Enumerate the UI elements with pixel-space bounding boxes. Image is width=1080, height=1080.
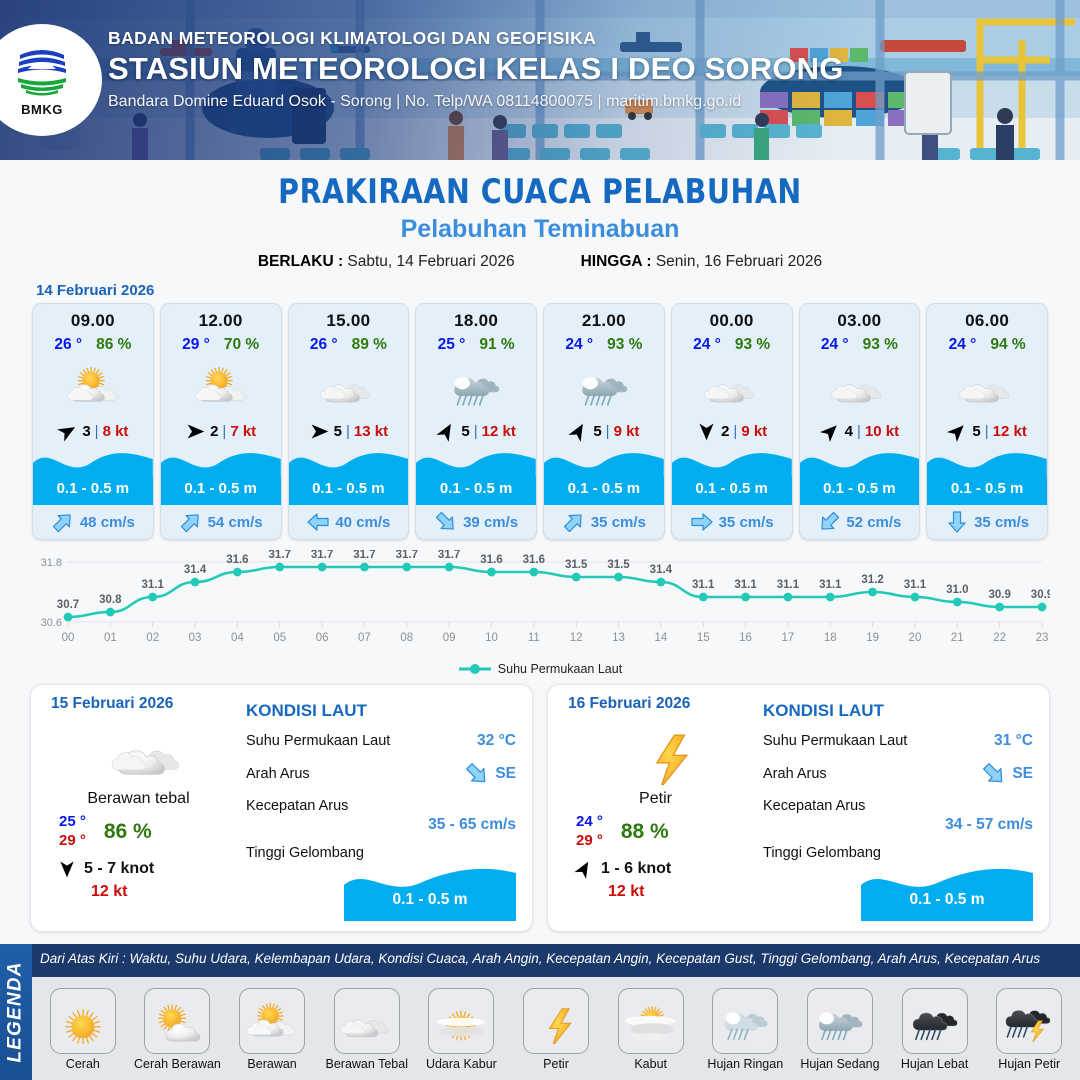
legend-icon-box <box>144 988 210 1054</box>
daily-weather-icon <box>568 715 763 790</box>
daily-temp-humidity: 25 ° 29 ° 86 % <box>51 813 246 851</box>
legend-item-label: Hujan Petir <box>998 1057 1060 1071</box>
light-rain-icon <box>715 998 775 1045</box>
wind-direction-icon <box>943 416 973 446</box>
svg-text:12: 12 <box>570 632 583 644</box>
wave-shape-icon <box>544 447 664 481</box>
sst-row: Suhu Permukaan Laut 32 °C <box>246 732 516 750</box>
card-time: 03.00 <box>800 304 920 331</box>
legend-item: Hujan Lebat <box>890 988 980 1071</box>
card-weather-icon <box>33 355 153 417</box>
wave-shape-icon <box>800 447 920 481</box>
current-direction-icon <box>812 505 846 539</box>
card-temperature: 24 ° <box>949 336 977 354</box>
svg-text:14: 14 <box>654 632 667 644</box>
wave-height-row: Tinggi Gelombang <box>246 845 516 861</box>
card-wave: 0.1 - 0.5 m <box>33 447 153 505</box>
card-time: 21.00 <box>544 304 664 331</box>
haze-icon <box>431 998 491 1045</box>
moderate-rain-icon <box>810 998 870 1045</box>
thunderstorm-icon <box>999 998 1059 1045</box>
daily-temps: 24 ° 29 ° <box>576 813 603 851</box>
daily-left: 16 Februari 2026 Petir 24 ° 29 ° 88 % <box>548 695 763 931</box>
daily-humidity: 88 % <box>621 820 669 844</box>
legend-side-title: LEGENDA <box>0 944 32 1080</box>
daily-temp-max: 29 ° <box>59 832 86 851</box>
svg-text:17: 17 <box>782 632 795 644</box>
sun-behind-small-cloud-icon <box>147 998 207 1045</box>
card-wave-height: 0.1 - 0.5 m <box>161 480 281 497</box>
cloud-icon <box>107 720 191 786</box>
svg-text:20: 20 <box>909 632 922 644</box>
sun-icon <box>53 998 113 1045</box>
wind-direction-icon <box>433 417 462 446</box>
svg-text:05: 05 <box>273 632 286 644</box>
card-wind-speed: 2 <box>721 423 729 440</box>
daily-temp-min: 24 ° <box>576 813 603 832</box>
card-temperature: 29 ° <box>182 336 210 354</box>
sea-condition-title: KONDISI LAUT <box>763 701 1033 721</box>
card-wind-separator: | <box>606 423 610 440</box>
legend-item: Hujan Ringan <box>700 988 790 1071</box>
wave-height-label: Tinggi Gelombang <box>246 845 364 861</box>
card-time: 09.00 <box>33 304 153 331</box>
daily-wind: 1 - 6 knot <box>568 859 763 879</box>
card-wind: 5 | 9 kt <box>544 417 664 445</box>
svg-text:13: 13 <box>612 632 625 644</box>
current-direction-row: Arah Arus SE <box>763 761 1033 787</box>
sst-row: Suhu Permukaan Laut 31 °C <box>763 732 1033 750</box>
card-current: 52 cm/s <box>800 505 920 539</box>
svg-text:31.6: 31.6 <box>480 554 502 566</box>
svg-text:23: 23 <box>1036 632 1049 644</box>
card-humidity: 93 % <box>863 336 898 354</box>
card-wave: 0.1 - 0.5 m <box>800 447 920 505</box>
cloud-icon <box>701 362 763 410</box>
wave-shape-icon <box>161 447 281 481</box>
valid-to-value: Senin, 16 Februari 2026 <box>656 253 822 270</box>
cloud-icon <box>337 998 397 1045</box>
legend-item-label: Udara Kabur <box>426 1057 497 1071</box>
sea-condition-title: KONDISI LAUT <box>246 701 516 721</box>
card-temp-humidity: 24 ° 93 % <box>800 336 920 354</box>
current-direction-icon <box>46 505 80 539</box>
card-temp-humidity: 26 ° 86 % <box>33 336 153 354</box>
legend-item: Cerah <box>38 988 128 1071</box>
wind-direction-icon <box>57 859 77 879</box>
svg-text:22: 22 <box>993 632 1006 644</box>
card-humidity: 91 % <box>479 336 514 354</box>
sun-behind-cloud-icon <box>190 362 252 410</box>
card-current-speed: 48 cm/s <box>80 514 135 531</box>
svg-text:07: 07 <box>358 632 371 644</box>
sst-value: 31 °C <box>994 732 1033 750</box>
legend-item: Hujan Sedang <box>795 988 885 1071</box>
legend-icon-row: Cerah Cerah Berawan <box>32 977 1080 1080</box>
card-gust: 9 kt <box>614 423 640 440</box>
card-wind: 2 | 9 kt <box>672 417 792 445</box>
legend-item-label: Hujan Sedang <box>800 1057 879 1071</box>
card-current-speed: 40 cm/s <box>335 514 390 531</box>
card-wave-height: 0.1 - 0.5 m <box>33 480 153 497</box>
svg-text:01: 01 <box>104 632 117 644</box>
card-wave-height: 0.1 - 0.5 m <box>544 480 664 497</box>
hourly-card: 12.00 29 ° 70 % 2 | 7 kt <box>160 303 282 540</box>
card-wind: 5 | 12 kt <box>416 417 536 445</box>
card-current: 35 cm/s <box>927 505 1047 539</box>
legend-item-label: Petir <box>543 1057 569 1071</box>
svg-text:09: 09 <box>443 632 456 644</box>
card-wind: 2 | 7 kt <box>161 417 281 445</box>
sst-value: 32 °C <box>477 732 516 750</box>
daily-gust: 12 kt <box>51 883 246 901</box>
svg-text:31.0: 31.0 <box>946 584 968 596</box>
card-temp-humidity: 29 ° 70 % <box>161 336 281 354</box>
card-wave: 0.1 - 0.5 m <box>161 447 281 505</box>
svg-text:31.4: 31.4 <box>650 564 673 576</box>
current-speed-value: 35 - 65 cm/s <box>246 816 516 834</box>
chart-legend-marker-icon <box>458 663 492 675</box>
bmkg-logo-text: BMKG <box>21 102 63 117</box>
card-humidity: 89 % <box>352 336 387 354</box>
svg-text:31.1: 31.1 <box>777 579 800 591</box>
card-wave-height: 0.1 - 0.5 m <box>416 480 536 497</box>
card-wind-speed: 5 <box>972 423 980 440</box>
sst-label: Suhu Permukaan Laut <box>763 733 907 749</box>
hourly-card: 03.00 24 ° 93 % 4 | 10 kt <box>799 303 921 540</box>
svg-text:31.6: 31.6 <box>226 554 248 566</box>
rain-icon <box>445 362 507 410</box>
card-wind: 4 | 10 kt <box>800 417 920 445</box>
svg-text:06: 06 <box>316 632 329 644</box>
card-weather-icon <box>289 355 409 417</box>
legend-icon-box <box>523 988 589 1054</box>
card-current: 40 cm/s <box>289 505 409 539</box>
daily-date: 16 Februari 2026 <box>568 695 763 713</box>
valid-from: BERLAKU : Sabtu, 14 Februari 2026 <box>258 253 515 271</box>
card-gust: 8 kt <box>103 423 129 440</box>
contact-line: Bandara Domine Eduard Osok - Sorong | No… <box>108 93 844 111</box>
card-temp-humidity: 24 ° 93 % <box>672 336 792 354</box>
daily-condition: Berawan tebal <box>51 790 226 808</box>
card-gust: 12 kt <box>993 423 1027 440</box>
current-direction-row: Arah Arus SE <box>246 761 516 787</box>
card-temperature: 24 ° <box>821 336 849 354</box>
legend-item: Udara Kabur <box>417 988 507 1071</box>
card-humidity: 86 % <box>96 336 131 354</box>
agency-name: BADAN METEOROLOGI KLIMATOLOGI DAN GEOFIS… <box>108 28 844 49</box>
svg-text:31.1: 31.1 <box>734 579 757 591</box>
svg-text:31.1: 31.1 <box>904 579 927 591</box>
fog-icon <box>621 998 681 1045</box>
svg-text:16: 16 <box>739 632 752 644</box>
card-wave-height: 0.1 - 0.5 m <box>289 480 409 497</box>
card-wind-speed: 5 <box>461 423 469 440</box>
card-temperature: 26 ° <box>310 336 338 354</box>
legend-bar: LEGENDA Dari Atas Kiri : Waktu, Suhu Uda… <box>0 944 1080 1080</box>
card-wind-separator: | <box>346 423 350 440</box>
daily-forecast-card: 16 Februari 2026 Petir 24 ° 29 ° 88 % <box>547 684 1050 932</box>
card-wave: 0.1 - 0.5 m <box>416 447 536 505</box>
card-wave-height: 0.1 - 0.5 m <box>672 480 792 497</box>
rain-icon <box>573 362 635 410</box>
svg-text:02: 02 <box>146 632 159 644</box>
card-weather-icon <box>161 355 281 417</box>
card-current: 35 cm/s <box>544 505 664 539</box>
legend-item-label: Hujan Ringan <box>707 1057 783 1071</box>
legend-item: Petir <box>511 988 601 1071</box>
card-temperature: 24 ° <box>565 336 593 354</box>
daily-condition: Petir <box>568 790 743 808</box>
card-weather-icon <box>416 355 536 417</box>
card-wave: 0.1 - 0.5 m <box>544 447 664 505</box>
card-current: 35 cm/s <box>672 505 792 539</box>
wave-height-row: Tinggi Gelombang <box>763 845 1033 861</box>
card-wind: 5 | 13 kt <box>289 417 409 445</box>
bmkg-emblem-icon <box>12 43 72 101</box>
legend-icon-box <box>618 988 684 1054</box>
daily-right: KONDISI LAUT Suhu Permukaan Laut 31 °C A… <box>763 695 1049 931</box>
svg-text:00: 00 <box>62 632 75 644</box>
card-current-speed: 35 cm/s <box>591 514 646 531</box>
svg-text:30.6: 30.6 <box>41 617 62 629</box>
card-wave: 0.1 - 0.5 m <box>927 447 1047 505</box>
card-gust: 10 kt <box>865 423 899 440</box>
station-name: STASIUN METEOROLOGI KELAS I DEO SORONG <box>108 51 844 87</box>
page-header: BMKG BADAN METEOROLOGI KLIMATOLOGI DAN G… <box>0 0 1080 160</box>
daily-wind: 5 - 7 knot <box>51 859 246 879</box>
card-wind-speed: 5 <box>334 423 342 440</box>
card-weather-icon <box>927 355 1047 417</box>
legend-item: Kabut <box>606 988 696 1071</box>
legend-icon-box <box>712 988 778 1054</box>
daily-wind-range: 5 - 7 knot <box>84 860 154 878</box>
card-wave-height: 0.1 - 0.5 m <box>800 480 920 497</box>
current-direction-icon <box>976 756 1013 793</box>
legend-item-label: Cerah Berawan <box>134 1057 221 1071</box>
card-current: 48 cm/s <box>33 505 153 539</box>
legend-side-title-text: LEGENDA <box>5 961 27 1062</box>
daily-temp-min: 25 ° <box>59 813 86 832</box>
card-wind-speed: 4 <box>845 423 853 440</box>
card-current-speed: 52 cm/s <box>846 514 901 531</box>
hourly-date-label: 14 Februari 2026 <box>36 282 1080 299</box>
sun-behind-cloud-icon <box>242 998 302 1045</box>
svg-text:21: 21 <box>951 632 964 644</box>
svg-text:31.7: 31.7 <box>311 550 333 561</box>
valid-to-label: HINGGA : <box>581 253 652 270</box>
page-title: PRAKIRAAN CUACA PELABUHAN <box>38 172 1042 212</box>
card-current-speed: 39 cm/s <box>463 514 518 531</box>
legend-item-label: Hujan Lebat <box>901 1057 968 1071</box>
wave-shape-icon <box>289 447 409 481</box>
card-gust: 12 kt <box>482 423 516 440</box>
svg-text:31.4: 31.4 <box>184 564 207 576</box>
card-wind-separator: | <box>733 423 737 440</box>
current-direction-icon <box>557 505 591 539</box>
card-wind-speed: 5 <box>593 423 601 440</box>
svg-text:31.2: 31.2 <box>861 574 883 586</box>
wave-shape-icon <box>927 447 1047 481</box>
legend-main: Dari Atas Kiri : Waktu, Suhu Udara, Kele… <box>32 944 1080 1080</box>
thunder-icon <box>624 720 708 786</box>
current-speed-label: Kecepatan Arus <box>763 798 865 814</box>
card-gust: 9 kt <box>741 423 767 440</box>
daily-temps: 25 ° 29 ° <box>59 813 86 851</box>
heavy-rain-icon <box>905 998 965 1045</box>
svg-text:31.7: 31.7 <box>438 550 460 561</box>
card-time: 06.00 <box>927 304 1047 331</box>
card-gust: 7 kt <box>230 423 256 440</box>
cloud-icon <box>317 362 379 410</box>
hourly-card: 06.00 24 ° 94 % 5 | 12 kt <box>926 303 1048 540</box>
card-time: 18.00 <box>416 304 536 331</box>
card-weather-icon <box>544 355 664 417</box>
svg-text:31.1: 31.1 <box>142 579 165 591</box>
wind-direction-icon <box>185 421 206 442</box>
card-current: 54 cm/s <box>161 505 281 539</box>
current-speed-row: Kecepatan Arus <box>246 798 516 814</box>
svg-text:19: 19 <box>866 632 879 644</box>
svg-text:30.9: 30.9 <box>988 589 1010 601</box>
sst-label: Suhu Permukaan Laut <box>246 733 390 749</box>
daily-humidity: 86 % <box>104 820 152 844</box>
legend-item: Cerah Berawan <box>133 988 223 1071</box>
card-weather-icon <box>672 355 792 417</box>
page-subtitle: Pelabuhan Teminabuan <box>0 215 1080 244</box>
wave-height-label: Tinggi Gelombang <box>763 845 881 861</box>
daily-date: 15 Februari 2026 <box>51 695 246 713</box>
legend-item: Berawan Tebal <box>322 988 412 1071</box>
wave-shape-icon <box>416 447 536 481</box>
legend-item: Berawan <box>227 988 317 1071</box>
card-temperature: 24 ° <box>693 336 721 354</box>
card-weather-icon <box>800 355 920 417</box>
chart-legend-label: Suhu Permukaan Laut <box>498 662 622 676</box>
hourly-card: 18.00 25 ° 91 % 5 | 12 kt <box>415 303 537 540</box>
svg-text:31.1: 31.1 <box>692 579 715 591</box>
legend-icon-box <box>807 988 873 1054</box>
legend-item: Hujan Petir <box>984 988 1074 1071</box>
card-wind-separator: | <box>857 423 861 440</box>
valid-from-label: BERLAKU : <box>258 253 343 270</box>
wave-shape-icon <box>33 447 153 481</box>
legend-item-label: Berawan Tebal <box>326 1057 408 1071</box>
legend-item-label: Cerah <box>66 1057 100 1071</box>
card-temp-humidity: 24 ° 93 % <box>544 336 664 354</box>
legend-icon-box <box>996 988 1062 1054</box>
svg-text:31.7: 31.7 <box>353 550 375 561</box>
cloud-icon <box>828 362 890 410</box>
legend-item-label: Berawan <box>247 1057 296 1071</box>
svg-text:30.7: 30.7 <box>57 599 79 611</box>
card-wind-speed: 3 <box>82 423 90 440</box>
daily-forecast-row: 15 Februari 2026 Berawan tebal 25 ° 29 <box>0 676 1080 932</box>
chart-legend: Suhu Permukaan Laut <box>0 662 1080 676</box>
sst-line-chart: 31.830.630.70030.80131.10231.40331.60431… <box>30 550 1050 655</box>
wind-direction-icon <box>309 421 330 442</box>
svg-text:04: 04 <box>231 632 244 644</box>
current-speed-value: 34 - 57 cm/s <box>763 816 1033 834</box>
header-text-block: BADAN METEOROLOGI KLIMATOLOGI DAN GEOFIS… <box>108 28 844 111</box>
sun-behind-cloud-icon <box>62 362 124 410</box>
card-wind-separator: | <box>95 423 99 440</box>
hourly-card: 15.00 26 ° 89 % 5 | 13 kt <box>288 303 410 540</box>
daily-gust: 12 kt <box>568 883 763 901</box>
daily-temp-max: 29 ° <box>576 832 603 851</box>
daily-wave-graphic: 0.1 - 0.5 m <box>246 863 516 923</box>
card-humidity: 94 % <box>990 336 1025 354</box>
card-wind-separator: | <box>474 423 478 440</box>
current-direction-icon <box>306 510 330 534</box>
svg-text:10: 10 <box>485 632 498 644</box>
legend-note: Dari Atas Kiri : Waktu, Suhu Udara, Kele… <box>32 944 1080 977</box>
card-wave: 0.1 - 0.5 m <box>672 447 792 505</box>
daily-wave-height: 0.1 - 0.5 m <box>861 891 1033 909</box>
card-time: 00.00 <box>672 304 792 331</box>
svg-text:15: 15 <box>697 632 710 644</box>
card-current: 39 cm/s <box>416 505 536 539</box>
hourly-card: 00.00 24 ° 93 % 2 | 9 kt <box>671 303 793 540</box>
card-current-speed: 54 cm/s <box>208 514 263 531</box>
daily-wave-height: 0.1 - 0.5 m <box>344 891 516 909</box>
svg-text:31.7: 31.7 <box>269 550 291 561</box>
svg-text:31.1: 31.1 <box>819 579 842 591</box>
forecast-title-block: PRAKIRAAN CUACA PELABUHAN Pelabuhan Temi… <box>0 160 1080 271</box>
thunder-icon <box>526 998 586 1045</box>
card-temperature: 26 ° <box>54 336 82 354</box>
daily-forecast-card: 15 Februari 2026 Berawan tebal 25 ° 29 <box>30 684 533 932</box>
daily-weather-icon <box>51 715 246 790</box>
legend-item-label: Kabut <box>634 1057 667 1071</box>
card-wind: 5 | 12 kt <box>927 417 1047 445</box>
card-humidity: 93 % <box>735 336 770 354</box>
card-temp-humidity: 25 ° 91 % <box>416 336 536 354</box>
current-speed-row: Kecepatan Arus <box>763 798 1033 814</box>
card-humidity: 70 % <box>224 336 259 354</box>
card-wind: 3 | 8 kt <box>33 417 153 445</box>
card-gust: 13 kt <box>354 423 388 440</box>
current-direction-icon <box>945 510 969 534</box>
card-current-speed: 35 cm/s <box>974 514 1029 531</box>
svg-text:18: 18 <box>824 632 837 644</box>
current-direction-label: Arah Arus <box>763 766 827 782</box>
sst-chart: 31.830.630.70030.80131.10231.40331.60431… <box>30 550 1050 660</box>
svg-text:31.7: 31.7 <box>396 550 418 561</box>
current-direction-value: SE <box>464 761 516 787</box>
svg-text:30.9: 30.9 <box>1031 589 1050 601</box>
svg-text:03: 03 <box>189 632 202 644</box>
wind-direction-icon <box>564 417 593 446</box>
card-wind-speed: 2 <box>210 423 218 440</box>
daily-left: 15 Februari 2026 Berawan tebal 25 ° 29 <box>31 695 246 931</box>
current-direction-text: SE <box>495 765 516 783</box>
hourly-forecast-row: 09.00 26 ° 86 % 3 | 8 kt <box>0 303 1080 540</box>
cloud-icon <box>956 362 1018 410</box>
card-humidity: 93 % <box>607 336 642 354</box>
legend-icon-box <box>902 988 968 1054</box>
card-wind-separator: | <box>985 423 989 440</box>
current-direction-icon <box>429 505 463 539</box>
svg-text:31.5: 31.5 <box>607 559 630 571</box>
validity-row: BERLAKU : Sabtu, 14 Februari 2026 HINGGA… <box>0 253 1080 271</box>
current-direction-icon <box>174 505 208 539</box>
wind-direction-icon <box>696 421 717 442</box>
legend-icon-box <box>239 988 305 1054</box>
current-speed-label: Kecepatan Arus <box>246 798 348 814</box>
svg-text:31.8: 31.8 <box>41 557 62 569</box>
legend-icon-box <box>428 988 494 1054</box>
